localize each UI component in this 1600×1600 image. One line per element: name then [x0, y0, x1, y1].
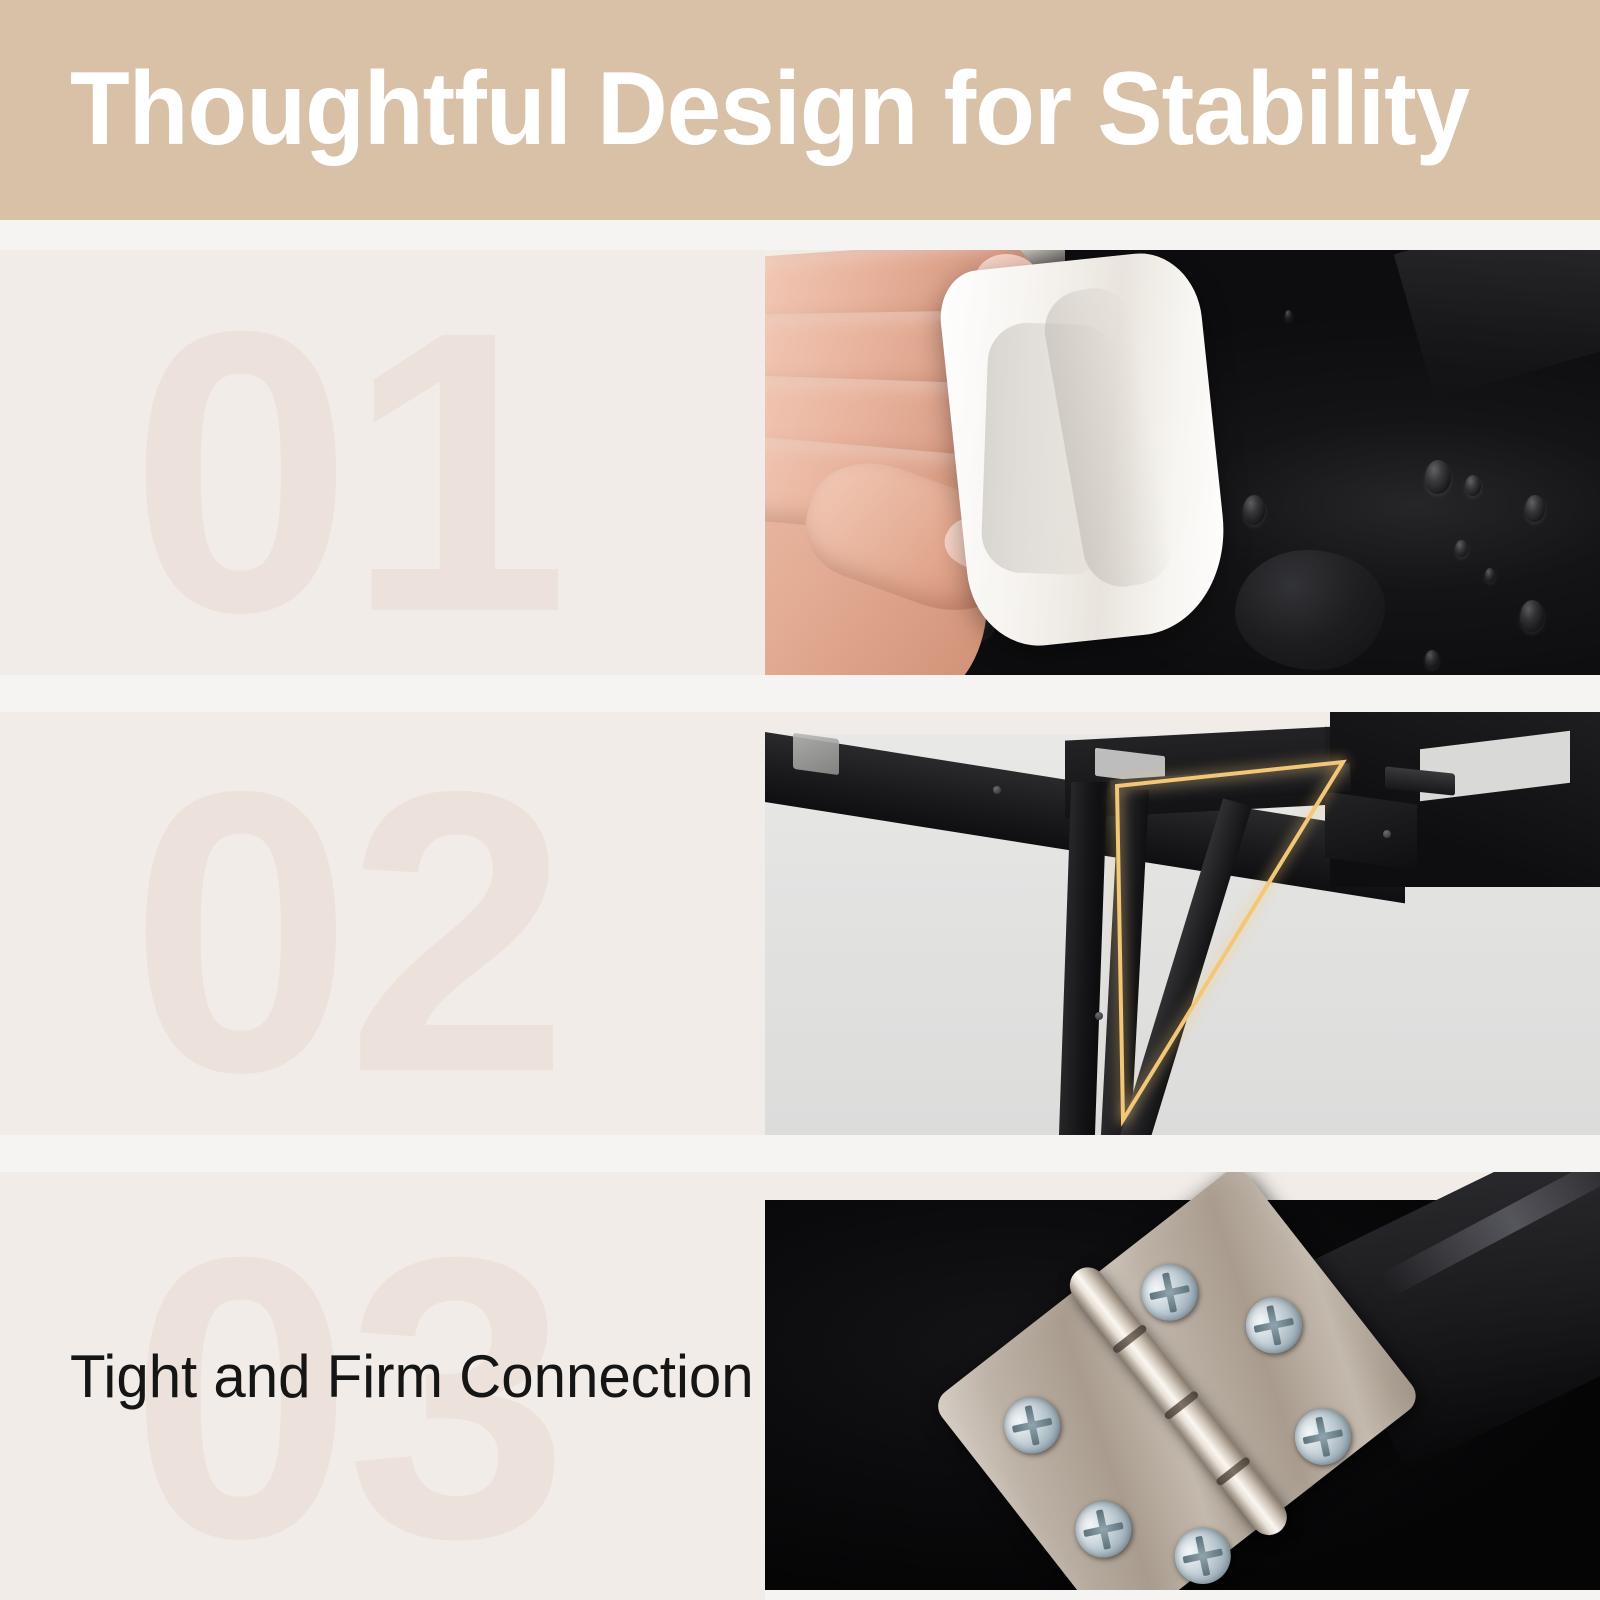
feature-image-panel-3 [765, 1172, 1600, 1600]
hand-wiping-surface-photo [765, 250, 1600, 675]
feature-row-1: 01 Easy-to-wipe Surface [0, 250, 1600, 675]
feature-row-3: 03 Tight and Firm Connection [0, 1172, 1600, 1600]
feature-text-panel-1: 01 Easy-to-wipe Surface [0, 250, 765, 675]
feature-image-panel-2 [765, 712, 1600, 1135]
cleaning-cloth [936, 250, 1234, 653]
feature-text-panel-2: 02 Triangle Structure Suppor [0, 712, 765, 1135]
feature-number-watermark-2: 02 [130, 732, 563, 1132]
divider-row2-row3 [0, 1135, 1600, 1172]
metal-hinge-photo [765, 1172, 1600, 1600]
product-feature-infographic: Thoughtful Design for Stability 01 Easy-… [0, 0, 1600, 1600]
feature-label-3: Tight and Firm Connection [70, 1342, 754, 1412]
feature-number-watermark-1: 01 [130, 272, 563, 672]
divider-row1-row2 [0, 675, 1600, 712]
feature-text-panel-3: 03 Tight and Firm Connection [0, 1172, 765, 1600]
triangle-support-bracket-photo [765, 712, 1600, 1135]
divider-banner-row1 [0, 220, 1600, 250]
page-title: Thoughtful Design for Stability [70, 34, 1461, 184]
header-banner: Thoughtful Design for Stability [0, 0, 1600, 220]
feature-image-panel-1 [765, 250, 1600, 675]
feature-row-2: 02 Triangle Structure Suppor [0, 712, 1600, 1135]
